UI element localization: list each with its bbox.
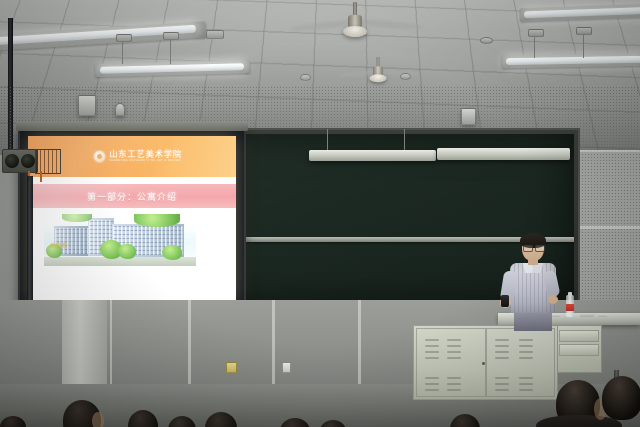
wall-device-box — [78, 95, 96, 116]
tree — [162, 245, 182, 260]
slide-title-text: 第一部分：公寓介绍 — [87, 190, 177, 203]
shelf — [559, 344, 599, 356]
speaker-bracket-arm — [40, 171, 42, 182]
water-bottle — [566, 295, 574, 317]
fan-light-cap — [369, 74, 386, 82]
wall-speaker — [2, 147, 60, 177]
institution-name-en: SHANDONG UNIVERSITY OF ART & DESIGN — [109, 160, 181, 163]
bottle-cap — [568, 292, 572, 296]
speaker-grille — [35, 149, 61, 174]
ceiling-sprinkler-2 — [400, 73, 411, 80]
cabinet-door-right[interactable] — [486, 328, 555, 397]
tree — [118, 244, 136, 259]
slide-body: 公寓楼 — [28, 208, 236, 302]
wall-outlet[interactable] — [282, 362, 291, 373]
panel-seam — [188, 300, 191, 384]
louvered-cabinet[interactable] — [413, 325, 558, 400]
audience-head-front — [602, 376, 640, 420]
light-hanger-rod-2 — [170, 36, 171, 64]
audience-face — [92, 412, 104, 427]
glasses-icon — [523, 245, 543, 250]
suspended-lightbar-2 — [437, 148, 570, 160]
ceiling-sprinkler-3 — [480, 37, 493, 44]
presentation-remote — [501, 295, 509, 307]
panel-seam — [110, 300, 112, 384]
presenter — [500, 235, 566, 327]
cabinet-handle[interactable] — [482, 362, 485, 365]
panel-seam — [272, 300, 275, 384]
ceiling-fan-2 — [364, 57, 393, 77]
university-logo: 山东工艺美术学院 SHANDONG UNIVERSITY OF ART & DE… — [94, 150, 182, 163]
lightbar-hanger-2 — [404, 129, 405, 151]
presenter-legs — [514, 311, 552, 331]
photo-caption: 公寓楼 — [50, 242, 68, 249]
desk-item-marker — [598, 314, 607, 317]
screen-roller-top — [16, 121, 248, 131]
ceiling-mount-1 — [116, 34, 132, 42]
suspended-lightbar-1 — [309, 150, 436, 161]
speaker-box — [2, 149, 38, 173]
speaker-cone-icon — [21, 154, 35, 168]
lightbar-hanger-1 — [327, 129, 328, 151]
institution-name-cn: 山东工艺美术学院 — [109, 150, 182, 159]
wall-pilaster — [62, 300, 107, 384]
cabinet-door-left[interactable] — [416, 328, 486, 397]
tree-canopy — [62, 214, 92, 222]
slide-divider — [28, 177, 236, 184]
ceiling-sprinkler-1 — [300, 74, 311, 81]
slide-title-band: 第一部分：公寓介绍 — [28, 184, 236, 208]
ceiling-mount-4 — [528, 29, 544, 37]
lecture-hall-photo: 山东工艺美术学院 SHANDONG UNIVERSITY OF ART & DE… — [0, 0, 640, 427]
ceiling-mount-3 — [206, 30, 224, 39]
wall-fixture — [115, 103, 125, 116]
speaker-mount-pole — [27, 176, 33, 312]
university-seal-icon — [94, 151, 105, 162]
wall-label-sign — [226, 362, 237, 373]
presenter-right-hand — [548, 295, 558, 304]
wall-device-box-2 — [461, 108, 476, 125]
apartment-building-photo: 公寓楼 — [44, 214, 196, 266]
desk-item-paper — [580, 313, 594, 317]
fan-light-cap — [343, 26, 367, 37]
ceiling-mount-5 — [576, 27, 592, 35]
shelf — [559, 330, 599, 342]
ceiling-mount-2 — [163, 32, 179, 40]
bottle-label — [566, 304, 574, 311]
ceiling-fan-1 — [330, 2, 380, 38]
speaker-cone-icon — [5, 154, 19, 168]
tree-canopy — [134, 214, 180, 227]
panel-seam — [358, 300, 361, 384]
side-shelf-unit — [556, 325, 602, 373]
